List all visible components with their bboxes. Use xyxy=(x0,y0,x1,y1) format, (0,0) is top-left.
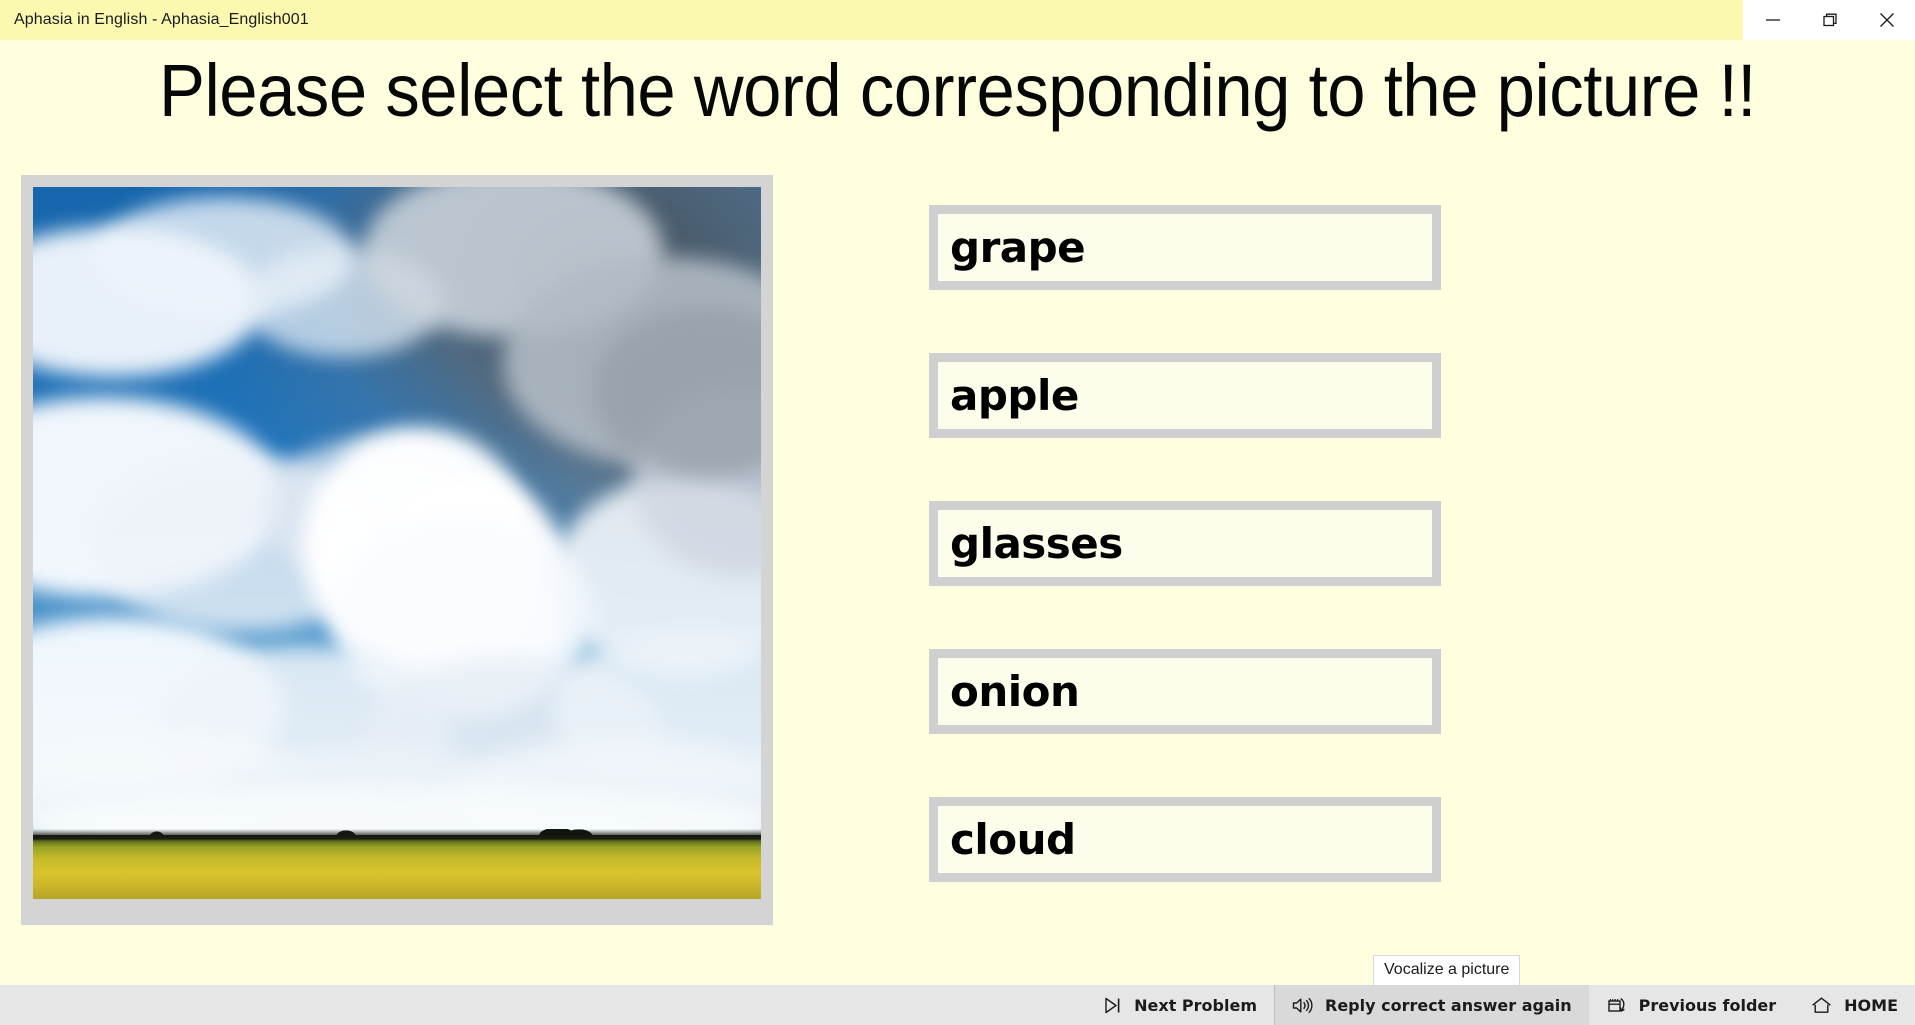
option-field: apple xyxy=(938,362,1432,429)
option-field: onion xyxy=(938,658,1432,725)
option-button-1[interactable]: grape xyxy=(929,205,1441,290)
close-icon xyxy=(1876,9,1898,31)
page-title: Please select the word corresponding to … xyxy=(67,52,1848,130)
next-problem-button[interactable]: Next Problem xyxy=(1085,985,1274,1025)
next-problem-label: Next Problem xyxy=(1134,996,1257,1015)
home-button[interactable]: HOME xyxy=(1793,985,1915,1025)
answer-options: grape apple glasses onion cloud xyxy=(929,205,1441,945)
title-bar-caption-area[interactable]: Aphasia in English - Aphasia_English001 xyxy=(0,0,1743,40)
option-button-2[interactable]: apple xyxy=(929,353,1441,438)
option-field: cloud xyxy=(938,806,1432,873)
window-controls xyxy=(1743,0,1915,40)
reply-correct-answer-label: Reply correct answer again xyxy=(1325,996,1572,1015)
picture-frame[interactable] xyxy=(21,175,773,925)
option-label: grape xyxy=(950,226,1085,270)
option-label: apple xyxy=(950,374,1079,418)
wheat-field xyxy=(33,835,761,899)
home-icon xyxy=(1810,995,1833,1016)
option-label: cloud xyxy=(950,818,1076,862)
speaker-icon xyxy=(1291,995,1314,1016)
bottom-toolbar: Next Problem Reply correct answer again xyxy=(0,985,1915,1025)
home-label: HOME xyxy=(1844,996,1898,1015)
skip-forward-icon xyxy=(1102,995,1123,1016)
application-window: Aphasia in English - Aphasia_English001 xyxy=(0,0,1915,1025)
tooltip: Vocalize a picture xyxy=(1373,955,1520,986)
option-button-5[interactable]: cloud xyxy=(929,797,1441,882)
option-label: glasses xyxy=(950,522,1123,566)
folder-back-icon xyxy=(1606,995,1628,1016)
option-field: glasses xyxy=(938,510,1432,577)
option-button-4[interactable]: onion xyxy=(929,649,1441,734)
previous-folder-label: Previous folder xyxy=(1639,996,1777,1015)
previous-folder-button[interactable]: Previous folder xyxy=(1589,985,1794,1025)
option-field: grape xyxy=(938,214,1432,281)
restore-icon xyxy=(1819,9,1841,31)
reply-correct-answer-button[interactable]: Reply correct answer again xyxy=(1274,985,1589,1025)
minimize-icon xyxy=(1762,9,1784,31)
option-label: onion xyxy=(950,670,1079,714)
option-button-3[interactable]: glasses xyxy=(929,501,1441,586)
minimize-button[interactable] xyxy=(1744,0,1801,40)
restore-button[interactable] xyxy=(1801,0,1858,40)
cloud-photo[interactable] xyxy=(33,187,761,899)
window-title: Aphasia in English - Aphasia_English001 xyxy=(14,11,309,29)
close-button[interactable] xyxy=(1858,0,1915,40)
title-bar: Aphasia in English - Aphasia_English001 xyxy=(0,0,1915,40)
